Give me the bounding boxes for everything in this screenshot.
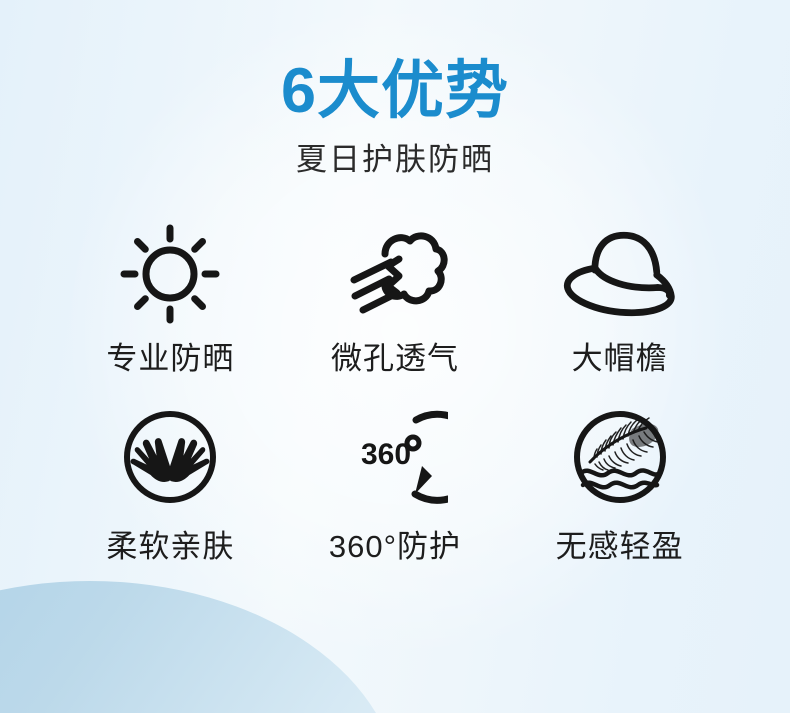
feature-label: 微孔透气 — [331, 341, 459, 377]
feature-item-wide-brim: 大帽檐 — [507, 219, 732, 383]
page-title: 6大优势 — [0, 58, 790, 125]
feature-label: 专业防晒 — [106, 341, 234, 377]
feature-label: 无感轻盈 — [556, 529, 684, 565]
wind-cloud-icon — [335, 219, 455, 329]
feature-label: 360°防护 — [329, 529, 461, 565]
feature-label: 大帽檐 — [572, 341, 668, 377]
wide-brim-hat-icon — [560, 219, 680, 329]
360-label: 360 — [361, 438, 411, 471]
sun-icon — [110, 219, 230, 329]
feature-label: 柔软亲肤 — [106, 529, 234, 565]
feature-item-breathable: 微孔透气 — [283, 219, 508, 383]
banner-header: 6大优势 夏日护肤防晒 — [0, 0, 790, 177]
feather-water-circle-icon — [560, 401, 680, 513]
feature-item-360-protection: 360 360°防护 — [283, 401, 508, 565]
360-degree-rotation-icon: 360 — [335, 401, 455, 513]
banner-content: 6大优势 夏日护肤防晒 — [0, 0, 790, 713]
soft-hands-circle-icon — [110, 401, 230, 513]
feature-item-weightless: 无感轻盈 — [507, 401, 732, 565]
feature-grid: 专业防晒 微孔透气 — [0, 219, 790, 564]
feature-item-sun-protection: 专业防晒 — [58, 219, 283, 383]
page-subtitle: 夏日护肤防晒 — [0, 143, 790, 177]
promo-banner: 6大优势 夏日护肤防晒 — [0, 0, 790, 713]
feature-item-soft-skin-friendly: 柔软亲肤 — [58, 401, 283, 565]
